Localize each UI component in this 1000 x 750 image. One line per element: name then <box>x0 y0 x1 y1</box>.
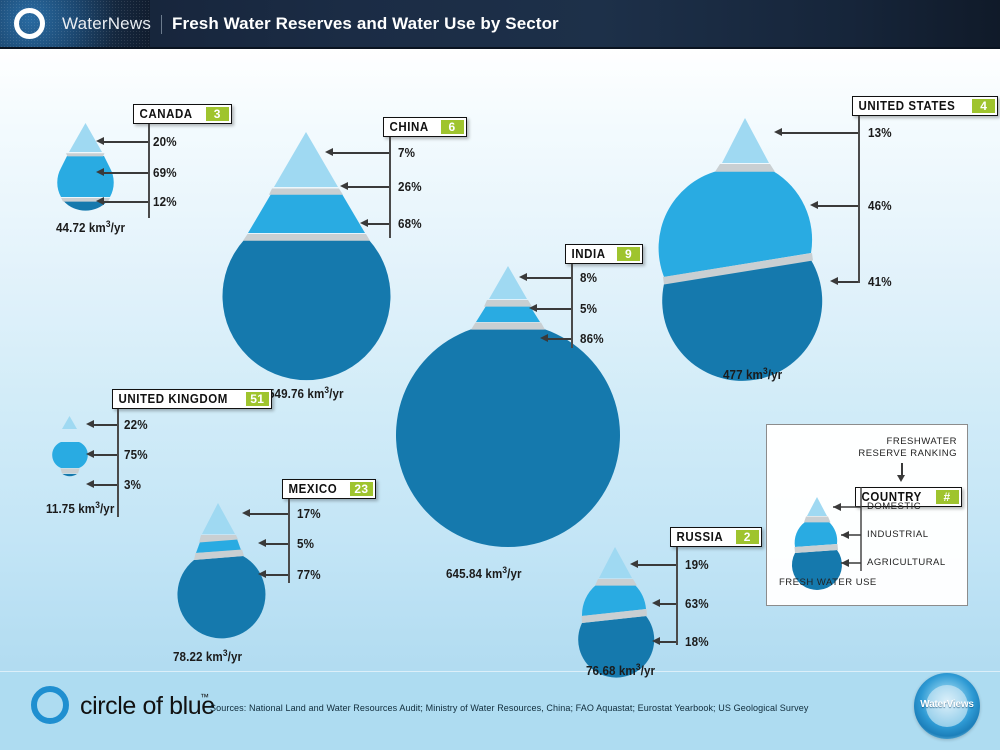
pct-canada-industrial: 69% <box>153 166 177 180</box>
legend-ranking-title: FRESHWATER RESERVE RANKING <box>858 436 957 460</box>
arrow-uk-domestic <box>86 420 94 428</box>
volume-russia: 76.68 km3/yr <box>586 662 655 678</box>
country-rank-russia: 2 <box>736 530 759 544</box>
brand-name: WaterNews <box>62 14 151 34</box>
arrow-china-domestic <box>325 148 333 156</box>
country-badge-india[interactable]: INDIA 9 <box>565 244 643 264</box>
leader-line-china-industrial <box>348 186 389 188</box>
leader-line-canada-domestic <box>104 141 148 143</box>
pct-india-agricultural: 86% <box>580 332 604 346</box>
country-badge-uk[interactable]: UNITED KINGDOM 51 <box>112 389 272 409</box>
country-name-china: CHINA <box>384 118 434 136</box>
pct-china-industrial: 26% <box>398 180 422 194</box>
pct-russia-industrial: 63% <box>685 597 709 611</box>
callout-spine-mexico <box>288 499 290 583</box>
pct-usa-industrial: 46% <box>868 199 892 213</box>
leader-line-uk-agricultural <box>94 484 117 486</box>
leader-line-india-domestic <box>527 277 571 279</box>
volume-china: 549.76 km3/yr <box>268 385 344 401</box>
pct-india-industrial: 5% <box>580 302 597 316</box>
arrow-mexico-industrial <box>258 539 266 547</box>
pct-canada-agricultural: 12% <box>153 195 177 209</box>
arrow-canada-industrial <box>96 168 104 176</box>
leader-line-russia-agricultural <box>660 641 676 643</box>
volume-india: 645.84 km3/yr <box>446 565 522 581</box>
legend-label-agricultural: AGRICULTURAL <box>867 557 946 568</box>
volume-canada: 44.72 km3/yr <box>56 219 125 235</box>
country-rank-canada: 3 <box>206 107 229 121</box>
pct-uk-agricultural: 3% <box>124 478 141 492</box>
leader-line-usa-industrial <box>818 205 858 207</box>
volume-value-usa: 477 km <box>723 368 763 382</box>
country-badge-china[interactable]: CHINA 6 <box>383 117 467 137</box>
pct-china-agricultural: 68% <box>398 217 422 231</box>
volume-value-canada: 44.72 km <box>56 221 106 235</box>
waterviews-label: WaterViews <box>914 699 980 710</box>
leader-line-uk-industrial <box>94 454 117 456</box>
volume-unit-india: /yr <box>507 567 522 581</box>
volume-unit-uk: /yr <box>100 502 115 516</box>
volume-unit-russia: /yr <box>641 664 656 678</box>
callout-spine-canada <box>148 124 150 218</box>
volume-unit-canada: /yr <box>111 221 126 235</box>
pct-uk-domestic: 22% <box>124 418 148 432</box>
pct-usa-agricultural: 41% <box>868 275 892 289</box>
callout-spine-russia <box>676 547 678 645</box>
volume-unit-china: /yr <box>329 387 344 401</box>
leader-line-uk-domestic <box>94 424 117 426</box>
leader-line-india-industrial <box>537 308 571 310</box>
brand-lockup: WaterNews Fresh Water Reserves and Water… <box>62 11 559 37</box>
arrow-usa-domestic <box>774 128 782 136</box>
legend-ranking-line2: RESERVE RANKING <box>858 448 957 460</box>
brand-separator <box>161 15 162 34</box>
footer-divider <box>0 671 1000 672</box>
leader-line-canada-agricultural <box>104 201 148 203</box>
country-rank-uk: 51 <box>246 392 269 406</box>
country-badge-usa[interactable]: UNITED STATES 4 <box>852 96 998 116</box>
arrow-mexico-domestic <box>242 509 250 517</box>
country-rank-usa: 4 <box>972 99 995 113</box>
arrow-india-domestic <box>519 273 527 281</box>
arrow-canada-agricultural <box>96 197 104 205</box>
pct-usa-domestic: 13% <box>868 126 892 140</box>
arrow-usa-industrial <box>810 201 818 209</box>
arrow-india-agricultural <box>540 334 548 342</box>
leader-line-russia-domestic <box>638 564 676 566</box>
circle-of-blue-wordmark: circle of blue <box>80 692 215 721</box>
arrow-russia-industrial <box>652 599 660 607</box>
volume-uk: 11.75 km3/yr <box>46 500 114 516</box>
leader-line-usa-agricultural <box>838 281 858 283</box>
country-name-russia: RUSSIA <box>671 528 729 546</box>
arrow-russia-domestic <box>630 560 638 568</box>
leader-line-mexico-domestic <box>250 513 288 515</box>
sources-note: Sources: National Land and Water Resourc… <box>210 703 808 714</box>
legend-label-domestic: DOMESTIC <box>867 501 921 512</box>
volume-mexico: 78.22 km3/yr <box>173 648 242 664</box>
country-rank-china: 6 <box>441 120 464 134</box>
country-name-mexico: MEXICO <box>283 480 343 498</box>
pct-india-domestic: 8% <box>580 271 597 285</box>
country-name-canada: CANADA <box>134 105 198 123</box>
country-name-usa: UNITED STATES <box>853 97 961 115</box>
volume-unit-mexico: /yr <box>228 650 243 664</box>
leader-line-usa-domestic <box>782 132 858 134</box>
circle-ring-logo-icon <box>14 8 45 39</box>
arrow-india-industrial <box>529 304 537 312</box>
trademark-symbol: ™ <box>200 692 209 702</box>
country-name-uk: UNITED KINGDOM <box>113 390 233 408</box>
volume-value-uk: 11.75 km <box>46 502 95 516</box>
arrow-uk-agricultural <box>86 480 94 488</box>
pct-mexico-industrial: 5% <box>297 537 314 551</box>
leader-line-mexico-agricultural <box>266 574 288 576</box>
arrow-russia-agricultural <box>652 637 660 645</box>
header-bottom-rule <box>0 47 1000 49</box>
pct-russia-agricultural: 18% <box>685 635 709 649</box>
callout-spine-china <box>389 137 391 238</box>
leader-line-russia-industrial <box>660 603 676 605</box>
infographic-canvas: WaterNews Fresh Water Reserves and Water… <box>0 0 1000 750</box>
legend-rank-placeholder: # <box>936 490 959 504</box>
leader-line-mexico-industrial <box>266 543 288 545</box>
country-name-india: INDIA <box>566 245 611 263</box>
callout-spine-india <box>571 264 573 348</box>
legend-label-industrial: INDUSTRIAL <box>867 529 928 540</box>
arrow-usa-agricultural <box>830 277 838 285</box>
country-rank-mexico: 23 <box>350 482 373 496</box>
country-badge-canada[interactable]: CANADA 3 <box>133 104 232 124</box>
volume-value-china: 549.76 km <box>268 387 324 401</box>
arrow-mexico-agricultural <box>258 570 266 578</box>
pct-mexico-agricultural: 77% <box>297 568 321 582</box>
legend-ranking-line1: FRESHWATER <box>858 436 957 448</box>
legend-panel: FRESHWATER RESERVE RANKING COUNTRY # <box>766 424 968 606</box>
callout-spine-uk <box>117 409 119 517</box>
legend-caption: FRESH WATER USE <box>779 577 877 588</box>
leader-line-china-domestic <box>333 152 389 154</box>
pct-russia-domestic: 19% <box>685 558 709 572</box>
circle-of-blue-logo-icon <box>31 686 69 724</box>
page-title: Fresh Water Reserves and Water Use by Se… <box>172 14 559 34</box>
arrow-uk-industrial <box>86 450 94 458</box>
pct-uk-industrial: 75% <box>124 448 148 462</box>
leader-line-canada-industrial <box>104 172 148 174</box>
volume-usa: 477 km3/yr <box>723 366 782 382</box>
leader-line-china-agricultural <box>368 223 389 225</box>
leader-line-india-agricultural <box>548 338 571 340</box>
volume-unit-usa: /yr <box>768 368 783 382</box>
arrow-china-industrial <box>340 182 348 190</box>
pct-canada-domestic: 20% <box>153 135 177 149</box>
country-badge-russia[interactable]: RUSSIA 2 <box>670 527 762 547</box>
arrow-canada-domestic <box>96 137 104 145</box>
country-badge-mexico[interactable]: MEXICO 23 <box>282 479 376 499</box>
waterviews-badge[interactable]: WaterViews <box>914 673 980 739</box>
arrow-china-agricultural <box>360 219 368 227</box>
volume-value-russia: 76.68 km <box>586 664 636 678</box>
volume-value-india: 645.84 km <box>446 567 502 581</box>
callout-spine-usa <box>858 116 860 283</box>
pct-mexico-domestic: 17% <box>297 507 321 521</box>
volume-value-mexico: 78.22 km <box>173 650 223 664</box>
legend-pointer-arrow-icon <box>897 475 905 482</box>
pct-china-domestic: 7% <box>398 146 415 160</box>
country-rank-india: 9 <box>617 247 640 261</box>
